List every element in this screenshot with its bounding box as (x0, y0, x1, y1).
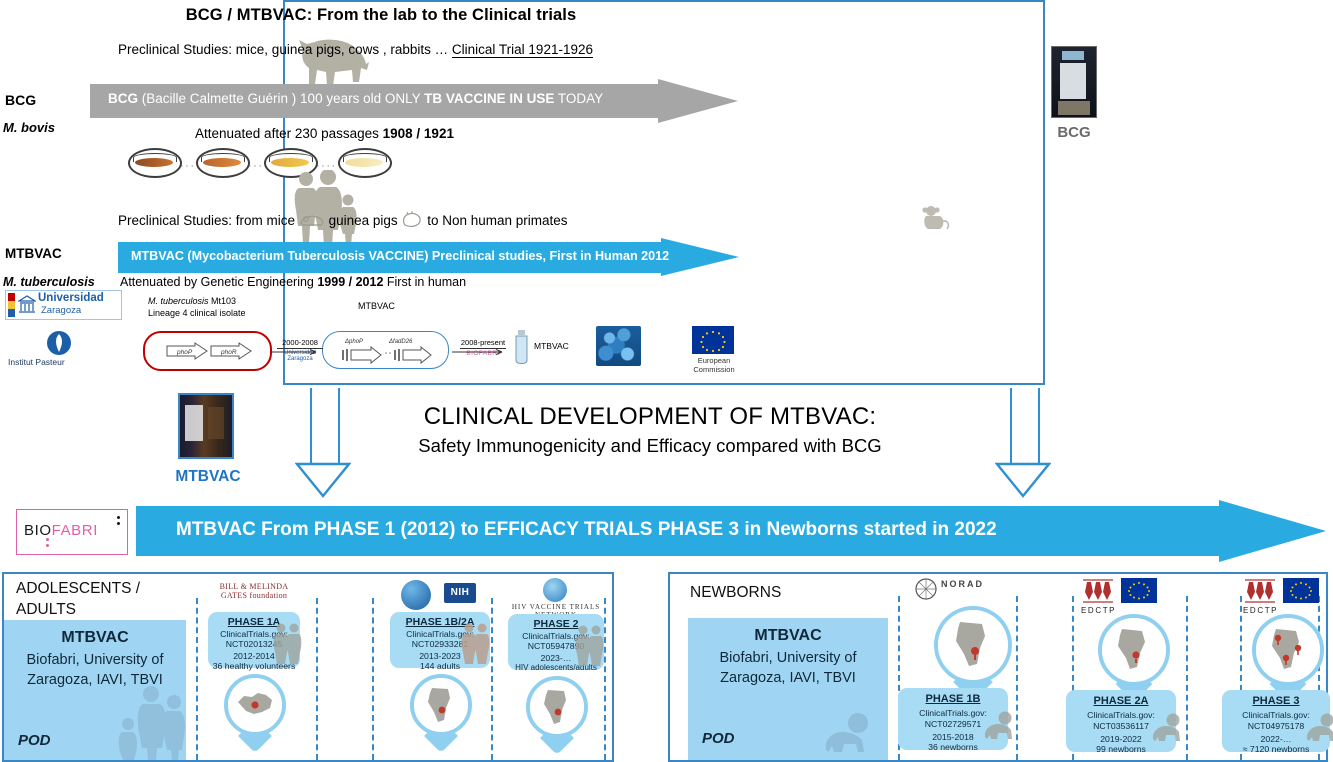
mtbvac-cell-outline: ΔphoP ΔfadD26 (322, 331, 449, 369)
left-panel-divider-5 (604, 598, 606, 760)
trial-2a-location-pin (1098, 614, 1170, 700)
down-arrow-left-stem (310, 388, 340, 466)
africa-map-icon (414, 678, 468, 732)
mtb-arrow-t4: INE) Preclinical studies, First in Human… (403, 249, 669, 263)
biofabri-wordmark: BIOFABRI (24, 522, 98, 539)
eu-stars-icon-2 (1283, 578, 1319, 603)
ge-product-label: MTBVAC (358, 301, 395, 311)
panel-left-title-line1: ADOLESCENTS / (16, 580, 140, 598)
bcg-timeline-arrow: BCG (Bacille Calmette Guérin ) 100 years… (90, 79, 738, 123)
trial-2a-pin-map (1102, 618, 1166, 682)
down-arrow-left-tip (295, 462, 351, 498)
deleted-genes-icon: ΔphoP ΔfadD26 (337, 336, 437, 364)
mtbvac-product-caption: MTBVAC (168, 468, 248, 486)
africa-map-icon-4 (1102, 618, 1166, 682)
trial-2-location-pin (526, 676, 588, 750)
gates-foundation-logo: BILL & MELINDA GATES foundation (212, 582, 296, 600)
petri-dish-2 (196, 148, 250, 178)
trial-phase-1b-phase: PHASE 1B (898, 693, 1008, 705)
trial-1b-baby-icon (980, 710, 1014, 740)
biofabri-dot-2 (46, 544, 49, 547)
phoP-phoR-genes-icon: phoP phoR (165, 342, 255, 360)
mouse-icon (299, 214, 325, 227)
mtbvac-arrow-text: MTBVAC (Mycobacterium Tuberculosis VACCI… (131, 249, 669, 263)
biofabri-part1: BIO (24, 522, 52, 539)
bcg-attenuated-years: 1908 / 1921 (383, 126, 454, 141)
trial-2-pin-map (530, 680, 584, 734)
universidad-zaragoza-logo: Universidad Zaragoza (5, 290, 122, 320)
bcg-arrow-t1: BCG (108, 91, 138, 106)
panel-left-people-silhouette (114, 682, 186, 760)
european-commission-logo: European Commission (678, 326, 750, 370)
nih-logo: NIH (444, 583, 476, 603)
m-tuberculosis-label: M. tuberculosis (3, 275, 95, 289)
svg-text:phoR: phoR (220, 349, 237, 356)
mtb-att-tail: First in human (383, 275, 466, 289)
bcg-preclinical-text: Preclinical Studies: mice, guinea pigs, … (118, 42, 593, 57)
mtbvac-attenuation-text: Attenuated by Genetic Engineering 1999 /… (120, 275, 466, 289)
ge-arrow-2-icon (452, 348, 510, 356)
m-bovis-label: M. bovis (3, 120, 55, 135)
trial-1b2a-people-icon (460, 622, 490, 664)
trial-phase-3-card: PHASE 3 ClinicalTrials.gov: NCT04975178 … (1222, 690, 1330, 752)
institut-pasteur-logo: Institut Pasteur (8, 330, 118, 370)
norad-logo: NORAD (915, 578, 937, 605)
svg-text:ΔphoP: ΔphoP (344, 339, 363, 345)
bcg-attenuation-text: Attenuated after 230 passages 1908 / 192… (195, 126, 454, 141)
petri-medium-3 (271, 158, 309, 167)
bcg-arrow-t3: TB VACCINE IN USE (424, 91, 554, 106)
down-arrow-left (295, 388, 351, 498)
bcg-arrow-t4: TODAY (554, 91, 603, 106)
mtb-arrow-t3: VACC (368, 249, 403, 263)
mtbvac-preclinical-text: Preclinical Studies: from mice guinea pi… (118, 211, 568, 229)
trial-phase-1a-card: PHASE 1A ClinicalTrials.gov: NCT02013245… (208, 612, 300, 668)
trial-phase-2a-population: 99 newborns (1066, 744, 1176, 754)
petri-medium-2 (203, 158, 241, 167)
pasteur-emblem-icon (46, 330, 72, 356)
bcg-row-label: BCG (5, 92, 36, 108)
down-arrow-right-stem (1010, 388, 1040, 466)
svg-text:ΔfadD26: ΔfadD26 (388, 339, 413, 345)
unizar-city: Zaragoza (41, 305, 81, 316)
mtb-preclinical-b: guinea pigs (329, 213, 398, 228)
eu-flag-icon-1 (1121, 578, 1157, 603)
clinical-development-heading: CLINICAL DEVELOPMENT OF MTBVAC: Safety I… (300, 403, 1000, 457)
trial-phase-3-population: ≈ 7120 newborns (1222, 744, 1330, 754)
africa-map-icon-2 (530, 680, 584, 734)
hvtn-logo-icon (543, 578, 567, 602)
trial-1b-location-pin (934, 606, 1012, 698)
mtb-arrow-t2: (Mycobacterium Tuberculosis (184, 249, 369, 263)
panel-right-pod: POD (702, 730, 735, 747)
trial-1a-people-icon (272, 622, 302, 664)
family-silhouette-icon (290, 170, 360, 248)
down-arrow-right-tip (995, 462, 1051, 498)
trial-3-baby-icon (1302, 712, 1333, 742)
bcg-preclinical-main: Preclinical Studies: mice, guinea pigs, … (118, 42, 452, 57)
trial-phase-2-card: PHASE 2 ClinicalTrials.gov: NCT05947890 … (508, 614, 604, 670)
petri-medium-1 (135, 158, 173, 167)
trial-2-people-icon (574, 624, 604, 666)
bcg-clinical-trial-years: Clinical Trial 1921-1926 (452, 42, 593, 58)
panel-left-product-card: MTBVAC Biofabri, University of Zaragoza,… (4, 620, 186, 760)
trial-1a-pin-map (228, 678, 282, 732)
petri-medium-4 (345, 158, 383, 167)
dish-dots-1: ··· (180, 160, 196, 172)
biofabri-dot-4 (117, 522, 120, 525)
left-panel-divider-4 (491, 598, 493, 760)
trial-phase-1b-2a-card: PHASE 1B/2A ClinicalTrials.gov: NCT02933… (390, 612, 490, 668)
left-panel-divider-1 (196, 598, 198, 760)
panel-right-card-line2: Zaragoza, IAVI, TBVI (688, 670, 888, 686)
panel-left-title-line2: ADULTS (16, 601, 76, 619)
bcg-arrow-text: BCG (Bacille Calmette Guérin ) 100 years… (108, 91, 603, 106)
unizar-name: Universidad (38, 292, 104, 304)
mtb-preclinical-a: Preclinical Studies: from mice (118, 213, 295, 228)
panel-right-product: MTBVAC (688, 627, 888, 645)
mtbvac-vial-icon (513, 330, 530, 364)
biofabri-part2: FABRI (52, 522, 98, 539)
ec-caption: European Commission (678, 356, 750, 374)
phase-progression-banner: MTBVAC From PHASE 1 (2012) to EFFICACY T… (136, 500, 1326, 562)
monkey-icon (920, 203, 952, 231)
trial-3-pin-map (1256, 618, 1320, 682)
gates-foundation-text: BILL & MELINDA GATES foundation (212, 582, 296, 600)
ge-arrow-1-icon (272, 348, 324, 356)
ge-vial-label: MTBVAC (534, 341, 569, 351)
panel-left-pod: POD (18, 732, 51, 749)
trial-2a-baby-icon (1148, 712, 1182, 742)
strain-code: Mt103 (209, 296, 237, 306)
mtbvac-arrow-head (661, 238, 739, 276)
europe-map-icon (228, 678, 282, 732)
bacteria-micrograph (596, 326, 641, 366)
bcg-vial-label (1060, 63, 1086, 99)
top-box-title: BCG / MTBVAC: From the lab to the Clinic… (0, 6, 762, 25)
norad-wordmark: NORAD (941, 579, 984, 589)
stage2-period: 2008-present (455, 338, 511, 347)
biofabri-logo: BIOFABRI (16, 509, 128, 555)
bcg-vial-base (1058, 101, 1090, 115)
right-panel-divider-2 (1016, 596, 1018, 760)
trial-phase-2a-card: PHASE 2A ClinicalTrials.gov: NCT03536117… (1066, 690, 1176, 752)
mtb-att-years: 1999 / 2012 (317, 275, 383, 289)
bcg-product-caption: BCG (1045, 124, 1103, 141)
bcg-attenuated-main: Attenuated after 230 passages (195, 126, 383, 141)
eu-flag-icon (692, 326, 734, 354)
mtb-arrow-t1: MTBVAC (131, 249, 184, 263)
trial-1b2a-location-pin (410, 674, 472, 748)
mtbvac-timeline-arrow: MTBVAC (Mycobacterium Tuberculosis VACCI… (118, 238, 738, 278)
bcg-mtbvac-timeline-box (283, 0, 1045, 385)
africa-map-icon-5 (1256, 618, 1320, 682)
panel-right-product-card: MTBVAC Biofabri, University of Zaragoza,… (688, 618, 888, 760)
mtbvac-row-label: MTBVAC (5, 246, 62, 261)
mtbvac-vials-photo (178, 393, 234, 459)
bcg-vial-cap (1062, 51, 1084, 60)
strain-name-line1: M. tuberculosis Mt103 (148, 296, 236, 306)
trial-1b2a-pin-map (414, 678, 468, 732)
eu-flag-icon-2 (1283, 578, 1319, 603)
left-panel-divider-3 (372, 598, 374, 760)
biofabri-dot-1 (46, 538, 49, 541)
trial-phase-3-phase: PHASE 3 (1222, 695, 1330, 707)
clinical-development-line1: CLINICAL DEVELOPMENT OF MTBVAC: (300, 403, 1000, 431)
right-panel-divider-4 (1186, 596, 1188, 760)
trial-phase-1b-card: PHASE 1B ClinicalTrials.gov: NCT02729571… (898, 688, 1008, 750)
panel-right-title: NEWBORNS (690, 584, 781, 602)
strain-species: M. tuberculosis (148, 296, 209, 306)
stage1-period: 2000-2008 (275, 338, 325, 347)
unizar-flag-bars (8, 293, 15, 317)
trial-phase-1b-population: 36 newborns (898, 742, 1008, 752)
edctp-emblem-icon-1 (1081, 578, 1115, 604)
bcg-arrow-t2: (Bacille Calmette Guérin ) 100 years old… (138, 91, 424, 106)
eu-stars-icon (692, 326, 734, 354)
niaid-logo-icon (401, 580, 431, 610)
trial-1a-location-pin (224, 674, 286, 748)
trial-phase-2a-phase: PHASE 2A (1066, 695, 1176, 707)
pasteur-name: Institut Pasteur (8, 357, 65, 367)
banner-text: MTBVAC From PHASE 1 (2012) to EFFICACY T… (176, 519, 997, 541)
unizar-building-icon (18, 295, 36, 315)
down-arrow-right (995, 388, 1051, 498)
panel-right-baby-silhouette (814, 710, 874, 754)
mtb-att-main: Attenuated by Genetic Engineering (120, 275, 317, 289)
norad-emblem-icon (915, 578, 937, 600)
biofabri-dot-3 (117, 516, 120, 519)
bcg-arrow-head (658, 79, 738, 123)
petri-dish-1 (128, 148, 182, 178)
dish-dots-2: ··· (248, 160, 264, 172)
bcg-vial-photo (1051, 46, 1097, 118)
panel-left-card-line1: Biofabri, University of (4, 652, 186, 668)
edctp-emblem-icon-2 (1243, 578, 1277, 604)
strain-name-line2: Lineage 4 clinical isolate (148, 308, 246, 318)
mtbvac-vial-label-left (185, 405, 203, 441)
clinical-development-line2: Safety Immunogenicity and Efficacy compa… (300, 435, 1000, 457)
guinea-pig-icon (401, 211, 423, 229)
africa-map-icon-3 (938, 610, 1008, 680)
left-panel-divider-2 (316, 598, 318, 760)
svg-text:phoP: phoP (176, 349, 193, 356)
eu-stars-icon-1 (1121, 578, 1157, 603)
panel-left-product: MTBVAC (4, 629, 186, 647)
mtbvac-vial-label-right (208, 407, 224, 439)
mtb-preclinical-c: to Non human primates (427, 213, 567, 228)
trial-1b-pin-map (938, 610, 1008, 680)
wildtype-cell-outline: phoP phoR (143, 331, 272, 371)
trial-3-location-pin (1252, 614, 1324, 700)
panel-right-card-line1: Biofabri, University of (688, 650, 888, 666)
banner-arrow-head (1219, 500, 1326, 562)
